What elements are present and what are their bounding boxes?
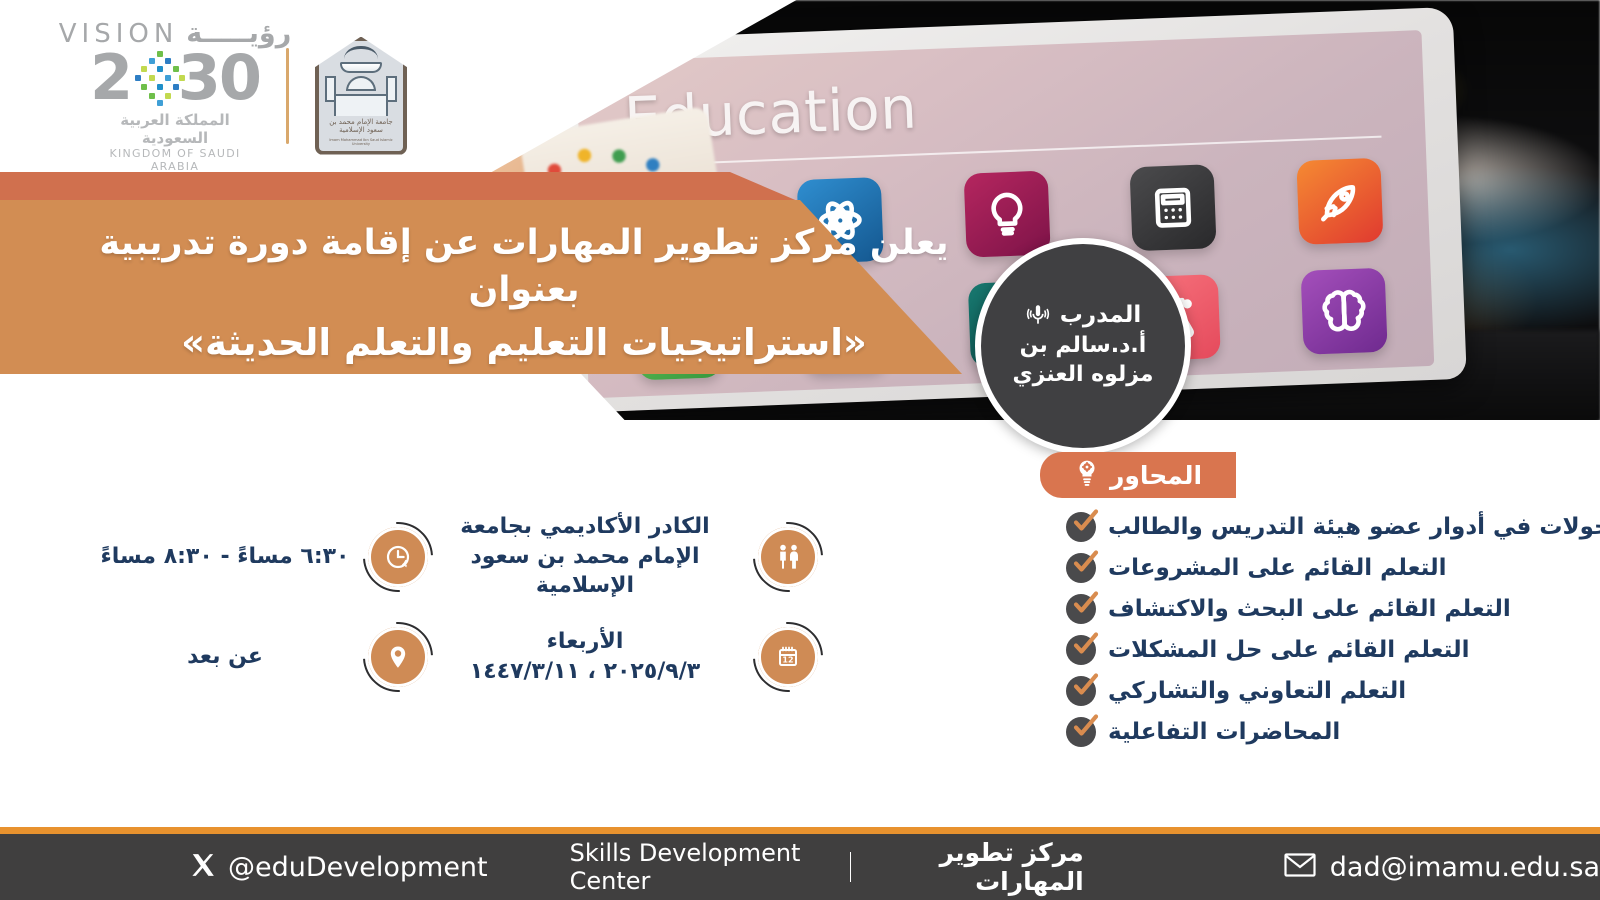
- logo-divider: [286, 48, 289, 144]
- check-circle-icon: [1066, 553, 1096, 583]
- check-circle-icon: [1066, 717, 1096, 747]
- location-pin-icon: [366, 625, 430, 689]
- check-circle-icon: [1066, 594, 1096, 624]
- topic-label: التحولات في أدوار عضو هيئة التدريس والطا…: [1108, 514, 1600, 540]
- topics-list: التحولات في أدوار عضو هيئة التدريس والطا…: [1040, 512, 1600, 747]
- topics-header-label: المحاور: [1110, 461, 1202, 490]
- topic-label: التعلم القائم على المشروعات: [1108, 555, 1447, 581]
- x-twitter-icon[interactable]: [190, 852, 216, 882]
- footer-center-name: Skills Development Center مركز تطوير الم…: [570, 838, 1084, 896]
- footer-contact[interactable]: dad@imamu.edu.sa: [1284, 852, 1600, 883]
- svg-text:12: 12: [782, 656, 793, 665]
- people-icon: [756, 525, 820, 589]
- footer-center-ar: مركز تطوير المهارات: [867, 838, 1083, 896]
- vision-kingdom-ar: المملكة العربية السعودية: [90, 111, 260, 147]
- list-item: المحاضرات التفاعلية: [1066, 717, 1600, 747]
- date-text: الأربعاء ٢٠٢٥/٩/٣ ، ١٤٤٧/٣/١١: [430, 627, 740, 686]
- imam-university-logo: جامعة الإمام محمد بن سعود الإسلامية Imam…: [315, 37, 407, 155]
- date-numeric: ٢٠٢٥/٩/٣ ، ١٤٤٧/٣/١١: [470, 659, 700, 684]
- title-banner: يعلن مركز تطوير المهارات عن إقامة دورة ت…: [0, 172, 1000, 374]
- date-day: الأربعاء: [547, 629, 624, 654]
- vision-number-right: 30: [178, 47, 260, 109]
- open-book-icon: [340, 62, 382, 73]
- rocket-icon: [1296, 158, 1383, 245]
- calendar-icon: 12: [756, 625, 820, 689]
- check-circle-icon: [1066, 676, 1096, 706]
- brain-icon: [1300, 268, 1387, 355]
- audience-line-1: الكادر الأكاديمي بجامعة: [460, 514, 709, 539]
- list-item: التعلم القائم على المشروعات: [1066, 553, 1600, 583]
- details-row-1: الكادر الأكاديمي بجامعة الإمام محمد بن س…: [60, 512, 820, 601]
- footer-bar: @eduDevelopment Skills Development Cente…: [0, 834, 1600, 900]
- lightbulb-gear-icon: [1074, 459, 1100, 491]
- trainer-label: المدرب: [1060, 302, 1142, 328]
- topic-label: التعلم القائم على البحث والاكتشاف: [1108, 596, 1511, 622]
- check-circle-icon: [1066, 512, 1096, 542]
- details-row-2: 12 الأربعاء ٢٠٢٥/٩/٣ ، ١٤٤٧/٣/١١ عن بعد: [60, 625, 820, 689]
- banner-top-strip: [0, 172, 800, 202]
- date-cell: 12 الأربعاء ٢٠٢٥/٩/٣ ، ١٤٤٧/٣/١١: [430, 625, 820, 689]
- vision-dot-pattern-icon: [131, 49, 178, 107]
- topic-label: المحاضرات التفاعلية: [1108, 719, 1340, 745]
- audience-line-2: الإمام محمد بن سعود الإسلامية: [470, 544, 699, 599]
- topics-panel: المحاور التحولات في أدوار عضو هيئة التدر…: [1040, 452, 1600, 758]
- list-item: التعلم القائم على حل المشكلات: [1066, 635, 1600, 665]
- envelope-icon[interactable]: [1284, 853, 1316, 881]
- list-item: التحولات في أدوار عضو هيئة التدريس والطا…: [1066, 512, 1600, 542]
- vision-2030-logo: VISION رؤيـــــة 2 30 المملكة العربية ال…: [90, 18, 260, 173]
- time-text: ٦:٣٠ مساءً - ٨:٣٠ مساءً: [100, 542, 350, 572]
- footer-center-en: Skills Development Center: [570, 839, 834, 895]
- topic-label: التعلم القائم على حل المشكلات: [1108, 637, 1470, 663]
- footer-separator: [850, 852, 852, 882]
- event-details: الكادر الأكاديمي بجامعة الإمام محمد بن س…: [60, 512, 820, 713]
- logo-bar: VISION رؤيـــــة 2 30 المملكة العربية ال…: [90, 18, 407, 173]
- poster-root: Education: [0, 0, 1600, 900]
- university-name-en: Imam Mohammad Ibn Saud Islamic Universit…: [324, 138, 398, 146]
- mosque-icon: [334, 94, 388, 116]
- banner-course-title: «استراتيجيات التعليم والتعلم الحديثة»: [74, 318, 974, 368]
- list-item: التعلم القائم على البحث والاكتشاف: [1066, 594, 1600, 624]
- university-name-ar: جامعة الإمام محمد بن سعود الإسلامية: [324, 119, 398, 134]
- list-item: التعلم التعاوني والتشاركي: [1066, 676, 1600, 706]
- footer-email[interactable]: dad@imamu.edu.sa: [1330, 852, 1600, 883]
- vision-number-left: 2: [90, 47, 131, 109]
- check-circle-icon: [1066, 635, 1096, 665]
- clock-icon: [366, 525, 430, 589]
- footer-accent-line: [0, 827, 1600, 834]
- footer-social[interactable]: @eduDevelopment: [190, 852, 488, 883]
- audience-text: الكادر الأكاديمي بجامعة الإمام محمد بن س…: [430, 512, 740, 601]
- topic-label: التعلم التعاوني والتشاركي: [1108, 678, 1406, 704]
- swords-palm-icon: [344, 46, 378, 60]
- mosque-dome-icon: [346, 76, 376, 92]
- banner-headline: يعلن مركز تطوير المهارات عن إقامة دورة ت…: [74, 220, 974, 314]
- microphone-icon: [1025, 302, 1051, 328]
- topics-header: المحاور: [1040, 452, 1236, 498]
- trainer-name: أ.د.سالم بن مزلوه العنزي: [993, 332, 1173, 389]
- trainer-badge: المدرب أ.د.سالم بن مزلوه العنزي: [975, 238, 1191, 454]
- location-cell: عن بعد: [100, 625, 430, 689]
- audience-cell: الكادر الأكاديمي بجامعة الإمام محمد بن س…: [430, 512, 820, 601]
- calculator-icon: [1130, 164, 1217, 251]
- time-cell: ٦:٣٠ مساءً - ٨:٣٠ مساءً: [100, 525, 430, 589]
- footer-handle[interactable]: @eduDevelopment: [228, 852, 488, 883]
- vision-kingdom-en: KINGDOM OF SAUDI ARABIA: [90, 147, 260, 173]
- location-text: عن بعد: [100, 642, 350, 672]
